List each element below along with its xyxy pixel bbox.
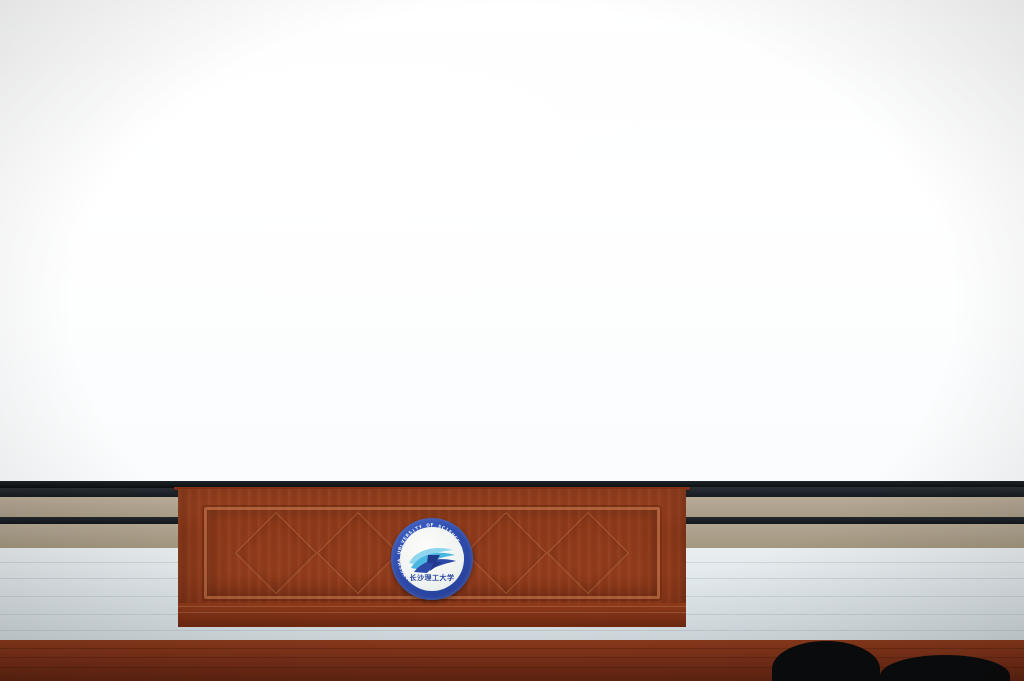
podium-carving-1 bbox=[235, 512, 317, 594]
person-hands bbox=[403, 279, 417, 287]
emblem-inner-disc: 长沙理工大学 bbox=[400, 527, 464, 591]
person-hands bbox=[373, 279, 387, 287]
person-hands bbox=[281, 279, 295, 287]
person-legs bbox=[214, 284, 240, 326]
person-hair bbox=[63, 193, 77, 201]
podium-base-molding bbox=[178, 603, 686, 627]
document-paper bbox=[771, 133, 808, 142]
watermark-logo-icon bbox=[946, 452, 970, 469]
person-hair bbox=[341, 217, 358, 226]
person-necktie bbox=[481, 212, 484, 225]
document-paper bbox=[865, 135, 902, 144]
person-hands bbox=[7, 279, 21, 287]
person-legs bbox=[550, 284, 576, 326]
person-necktie bbox=[409, 242, 412, 257]
group-photo-image bbox=[0, 58, 622, 328]
person-hair bbox=[554, 217, 571, 226]
person-hair bbox=[91, 193, 105, 201]
person-hair bbox=[962, 270, 993, 287]
wall-poster-2-title: 学 习 bbox=[726, 61, 788, 70]
person-legs bbox=[519, 284, 545, 326]
person-legs bbox=[397, 284, 423, 326]
person-hands bbox=[495, 279, 509, 287]
person-hands bbox=[342, 279, 356, 287]
person-legs bbox=[489, 284, 515, 326]
person-necktie bbox=[287, 242, 290, 257]
person-hair bbox=[36, 193, 50, 201]
person-hair bbox=[732, 96, 752, 108]
group-photo-banner bbox=[144, 130, 414, 146]
person-hands bbox=[464, 279, 478, 287]
person-hair bbox=[188, 217, 205, 226]
lab-photo-image bbox=[652, 218, 1024, 406]
person-hair bbox=[283, 193, 297, 201]
screen-bottom-frame bbox=[0, 481, 1024, 487]
wall-poster-1-title: 党 建 bbox=[658, 61, 720, 70]
group-photo-door bbox=[560, 58, 612, 178]
lab-researcher bbox=[944, 266, 1012, 400]
document-paper bbox=[681, 137, 718, 146]
wall-poster-1-lines bbox=[662, 74, 716, 96]
podium-carving-3 bbox=[465, 512, 547, 594]
person-necktie bbox=[165, 242, 168, 257]
person-hands bbox=[190, 279, 204, 287]
person-necktie bbox=[531, 242, 534, 257]
podium-carving-4 bbox=[547, 512, 629, 594]
person-hair bbox=[558, 193, 572, 201]
podium: CHANGSHA UNIVERSITY OF SCIENCE & TECHNOL… bbox=[174, 476, 690, 651]
person-hair bbox=[586, 193, 600, 201]
person-hair bbox=[66, 217, 83, 226]
person-hair bbox=[173, 193, 187, 201]
person-legs bbox=[1, 284, 27, 326]
person-hair bbox=[975, 98, 999, 111]
person-torso bbox=[718, 114, 766, 150]
watermark-text: 交通 bbox=[976, 452, 1002, 469]
blue-lab-coat bbox=[744, 298, 810, 376]
person-hands bbox=[251, 279, 265, 287]
microphone-left-icon bbox=[368, 438, 392, 478]
meeting-photo-image: ☭ 党 建 学 习 bbox=[652, 6, 1024, 176]
person-legs bbox=[336, 284, 362, 326]
person-hands bbox=[129, 279, 143, 287]
person-hair bbox=[493, 217, 510, 226]
person-hair bbox=[829, 276, 862, 292]
document-paper bbox=[939, 137, 976, 146]
lab-researcher bbox=[810, 272, 882, 394]
person-hair bbox=[158, 217, 175, 226]
person-hair bbox=[371, 217, 388, 226]
person-hair bbox=[421, 193, 435, 201]
person-legs bbox=[580, 284, 606, 326]
person-legs bbox=[458, 284, 484, 326]
group-photo-front-row bbox=[0, 226, 622, 326]
group-photo-person bbox=[576, 226, 611, 326]
lab-photo-caption: 长江学者与创新团队发展计划 国家级科研团队 bbox=[652, 412, 1024, 457]
person-hands bbox=[220, 279, 234, 287]
emblem-swoosh-icon bbox=[406, 541, 458, 575]
lecture-hall-photograph: “现代交通基础设施智慧建养与运维” 全国高校黄大年式教师团队 ☭ 党 建 学 习 bbox=[0, 0, 1024, 681]
person-legs bbox=[245, 284, 271, 326]
person-hands bbox=[556, 279, 570, 287]
person-hair bbox=[5, 217, 22, 226]
lab-researcher bbox=[744, 270, 810, 396]
person-hair bbox=[476, 193, 490, 201]
glasses-icon bbox=[487, 398, 529, 408]
university-emblem: CHANGSHA UNIVERSITY OF SCIENCE & TECHNOL… bbox=[391, 518, 473, 600]
person-hair bbox=[707, 264, 742, 282]
person-hair bbox=[280, 217, 297, 226]
person-necktie bbox=[43, 242, 46, 257]
person-hair bbox=[310, 217, 327, 226]
person-hands bbox=[68, 279, 82, 287]
person-legs bbox=[306, 284, 332, 326]
person-hair bbox=[432, 217, 449, 226]
person-hair bbox=[688, 104, 714, 119]
person-hair bbox=[97, 217, 114, 226]
person-hair bbox=[146, 193, 160, 201]
person-legs bbox=[123, 284, 149, 326]
meeting-person bbox=[848, 94, 892, 140]
meeting-photo-caption: 道路工程系列课程国家级教学团队 bbox=[652, 180, 1024, 204]
person-hair bbox=[531, 193, 545, 201]
person-legs bbox=[367, 284, 393, 326]
person-hair bbox=[118, 193, 132, 201]
speaker-mouth bbox=[502, 416, 515, 423]
person-legs bbox=[275, 284, 301, 326]
person-hands bbox=[586, 279, 600, 287]
person-hands bbox=[434, 279, 448, 287]
person-hair bbox=[249, 217, 266, 226]
person-hair bbox=[228, 193, 242, 201]
blue-lab-coat bbox=[884, 298, 952, 377]
lab-caption-line1: 长江学者与创新团队发展计划 bbox=[652, 412, 1024, 435]
person-hair bbox=[393, 193, 407, 201]
person-hands bbox=[159, 279, 173, 287]
meeting-person bbox=[718, 92, 766, 150]
person-legs bbox=[428, 284, 454, 326]
person-hands bbox=[525, 279, 539, 287]
person-legs bbox=[184, 284, 210, 326]
person-hair bbox=[585, 217, 602, 226]
person-hair bbox=[311, 193, 325, 201]
person-legs bbox=[153, 284, 179, 326]
slide-watermark: 交通 bbox=[946, 452, 1002, 469]
person-hair bbox=[127, 217, 144, 226]
person-hands bbox=[98, 279, 112, 287]
person-hair bbox=[338, 193, 352, 201]
blue-lab-coat bbox=[810, 299, 882, 375]
person-hair bbox=[256, 193, 270, 201]
blue-lab-coat bbox=[944, 295, 1012, 378]
party-flag-icon: ☭ bbox=[682, 7, 778, 56]
group-photo-door-frame bbox=[546, 64, 560, 176]
person-hair bbox=[463, 217, 480, 226]
person-hands bbox=[312, 279, 326, 287]
person-hair bbox=[762, 274, 792, 290]
person-legs bbox=[62, 284, 88, 326]
person-hair bbox=[902, 274, 933, 291]
person-hair bbox=[201, 193, 215, 201]
person-hair bbox=[8, 193, 22, 201]
person-hair bbox=[366, 193, 380, 201]
person-necktie bbox=[151, 212, 154, 225]
person-legs bbox=[31, 284, 57, 326]
person-hair bbox=[36, 217, 53, 226]
person-legs bbox=[92, 284, 118, 326]
meeting-person bbox=[958, 94, 1016, 158]
person-hair bbox=[448, 193, 462, 201]
person-hair bbox=[503, 193, 517, 201]
podium-carving-2 bbox=[317, 512, 399, 594]
lab-researcher bbox=[884, 270, 952, 398]
person-hair bbox=[524, 217, 541, 226]
whiteboard bbox=[890, 8, 1018, 54]
emblem-chinese-text: 长沙理工大学 bbox=[400, 573, 464, 583]
person-hair bbox=[219, 217, 236, 226]
person-hair bbox=[402, 217, 419, 226]
hammer-sickle-icon: ☭ bbox=[734, 22, 756, 42]
person-hands bbox=[37, 279, 51, 287]
